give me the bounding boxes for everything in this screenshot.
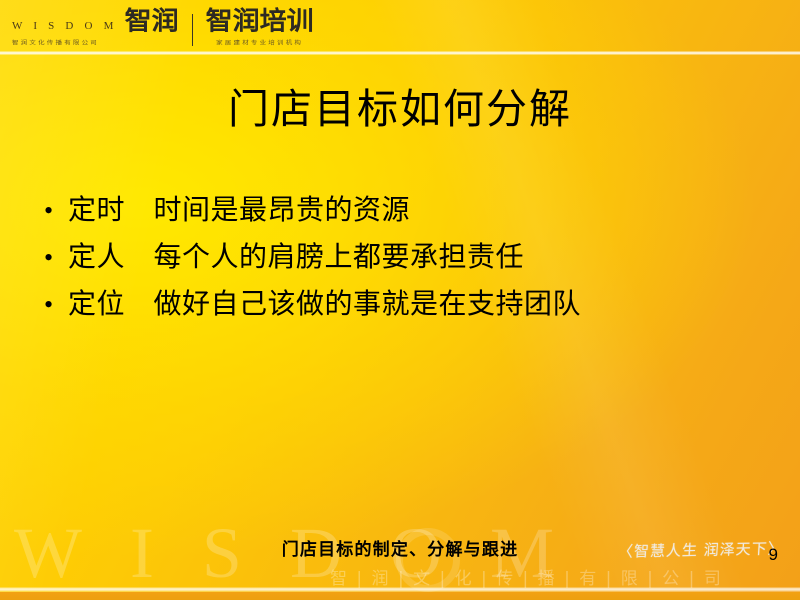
logo-divider-icon (192, 14, 193, 46)
brand-cn-wordmark: 智润 (125, 9, 179, 35)
list-item-label: 定时 时间是最昂贵的资源 (68, 196, 410, 227)
header-divider-rule (0, 51, 800, 55)
brand-logo[interactable]: W I S D O M 智润 智润文化传播有限公司 智润培训 家居建材专业培训机… (12, 2, 314, 50)
brand-logo-primary-row: W I S D O M 智润 (12, 8, 179, 35)
list-item: • 定时 时间是最昂贵的资源 (44, 196, 744, 243)
footer-color-band (0, 592, 800, 600)
brand-logo-primary: W I S D O M 智润 智润文化传播有限公司 (12, 3, 179, 49)
brand-logo-secondary: 智润培训 家居建材专业培训机构 (206, 3, 314, 49)
bullet-dot-icon: • (44, 245, 68, 271)
page-title: 门店目标如何分解 (0, 86, 800, 133)
bullet-list: • 定时 时间是最昂贵的资源 • 定人 每个人的肩膀上都要承担责任 • 定位 做… (44, 196, 744, 337)
list-item: • 定人 每个人的肩膀上都要承担责任 (44, 243, 744, 290)
list-item-label: 定人 每个人的肩膀上都要承担责任 (68, 243, 524, 274)
list-item-label: 定位 做好自己该做的事就是在支持团队 (68, 290, 581, 321)
bullet-dot-icon: • (44, 292, 68, 318)
training-subtitle: 家居建材专业培训机构 (216, 38, 303, 47)
brand-company-subtitle: 智润文化传播有限公司 (12, 38, 99, 47)
company-watermark: 智 | 润 | 文 | 化 | 传 | 播 | 有 | 限 | 公 | 司 (330, 569, 800, 589)
list-item: • 定位 做好自己该做的事就是在支持团队 (44, 290, 744, 337)
page-number: 9 (769, 546, 778, 563)
wisdom-wordmark: W I S D O M (12, 20, 118, 35)
slide-header: W I S D O M 智润 智润文化传播有限公司 智润培训 家居建材专业培训机… (0, 0, 800, 53)
bullet-dot-icon: • (44, 198, 68, 224)
training-cn-wordmark: 智润培训 (206, 9, 314, 35)
slide-canvas: W I S D O M 智润 智润文化传播有限公司 智润培训 家居建材专业培训机… (0, 0, 800, 600)
